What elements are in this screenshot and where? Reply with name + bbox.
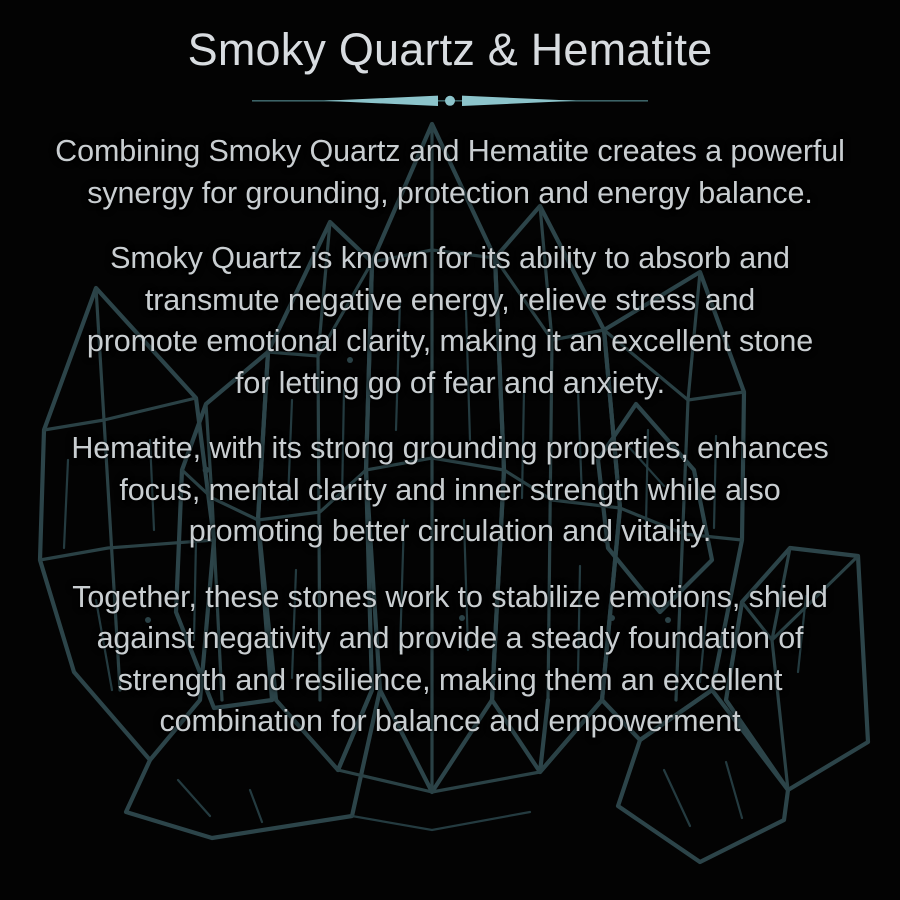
content-layer: Smoky Quartz & Hematite Combining Smoky … (0, 0, 900, 900)
body-copy: Combining Smoky Quartz and Hematite crea… (0, 131, 900, 743)
paragraph-1: Combining Smoky Quartz and Hematite crea… (8, 131, 892, 214)
ornamental-divider (252, 88, 648, 114)
paragraph-4: Together, these stones work to stabilize… (8, 577, 892, 743)
poster-canvas: Smoky Quartz & Hematite Combining Smoky … (0, 0, 900, 900)
page-title: Smoky Quartz & Hematite (0, 22, 900, 78)
paragraph-3: Hematite, with its strong grounding prop… (8, 428, 892, 553)
paragraph-2: Smoky Quartz is known for its ability to… (8, 238, 892, 404)
